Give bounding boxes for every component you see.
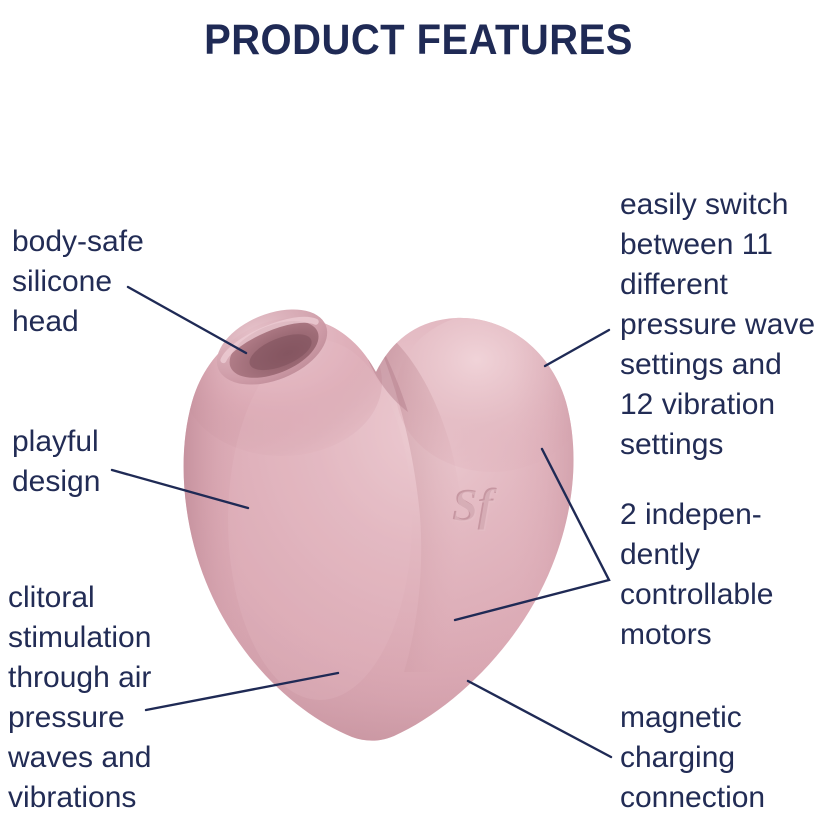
leader-line-settings	[545, 330, 609, 366]
satisfyer-logo-icon: Sf Sf	[452, 479, 499, 532]
callout-motors: 2 indepen- dently controllable motors	[620, 495, 835, 655]
leader-line-magnetic-charging	[468, 681, 611, 757]
callout-magnetic-charging: magnetic charging connection	[620, 698, 835, 818]
body-light-band	[228, 340, 412, 700]
callout-silicone-head: body-safe silicone head	[12, 222, 227, 342]
callout-settings: easily switch between 11 different press…	[620, 185, 835, 465]
product-features-infographic: PRODUCT FEATURES	[0, 0, 837, 835]
callout-clitoral-stimulation: clitoral stimulation through air pressur…	[8, 578, 238, 818]
svg-text:Sf: Sf	[454, 481, 500, 532]
callout-playful-design: playful design	[12, 422, 227, 502]
